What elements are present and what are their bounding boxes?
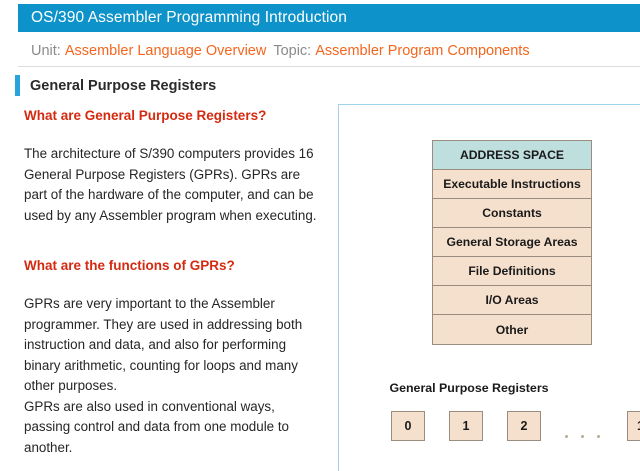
breadcrumb-unit-value[interactable]: Assembler Language Overview	[65, 43, 267, 59]
register-box-row: 0 1 2 15	[391, 408, 640, 443]
app-title-bar: OS/390 Assembler Programming Introductio…	[18, 4, 640, 32]
address-space-row: Executable Instructions	[433, 170, 591, 199]
ellipsis-dots	[565, 408, 613, 443]
body-paragraph-1: The architecture of S/390 computers prov…	[24, 144, 324, 226]
address-space-row: General Storage Areas	[433, 228, 591, 257]
register-box: 1	[449, 411, 483, 441]
address-space-row: Other	[433, 315, 591, 344]
question-heading-1: What are General Purpose Registers?	[24, 108, 324, 124]
breadcrumb-unit-label: Unit:	[31, 43, 61, 59]
body-paragraph-2: GPRs are very important to the Assembler…	[24, 294, 324, 397]
diagram-panel: ADDRESS SPACE Executable Instructions Co…	[338, 104, 640, 471]
content-column: What are General Purpose Registers? The …	[24, 108, 324, 458]
breadcrumb: Unit: Assembler Language Overview Topic:…	[18, 36, 640, 66]
address-space-diagram: ADDRESS SPACE Executable Instructions Co…	[432, 140, 592, 345]
address-space-header: ADDRESS SPACE	[433, 141, 591, 170]
breadcrumb-topic-value[interactable]: Assembler Program Components	[315, 43, 529, 59]
section-title: General Purpose Registers	[30, 78, 216, 94]
section-heading: General Purpose Registers	[15, 75, 216, 96]
question-heading-2: What are the functions of GPRs?	[24, 258, 324, 274]
register-box: 0	[391, 411, 425, 441]
register-box: 15	[627, 411, 640, 441]
address-space-row: I/O Areas	[433, 286, 591, 315]
breadcrumb-divider	[18, 66, 640, 67]
address-space-row: File Definitions	[433, 257, 591, 286]
body-paragraph-3: GPRs are also used in conventional ways,…	[24, 397, 324, 459]
section-accent-bar	[15, 75, 20, 96]
registers-caption: General Purpose Registers	[339, 381, 599, 395]
register-box: 2	[507, 411, 541, 441]
address-space-row: Constants	[433, 199, 591, 228]
breadcrumb-topic-label: Topic:	[273, 43, 311, 59]
page-title: OS/390 Assembler Programming Introductio…	[31, 9, 347, 27]
